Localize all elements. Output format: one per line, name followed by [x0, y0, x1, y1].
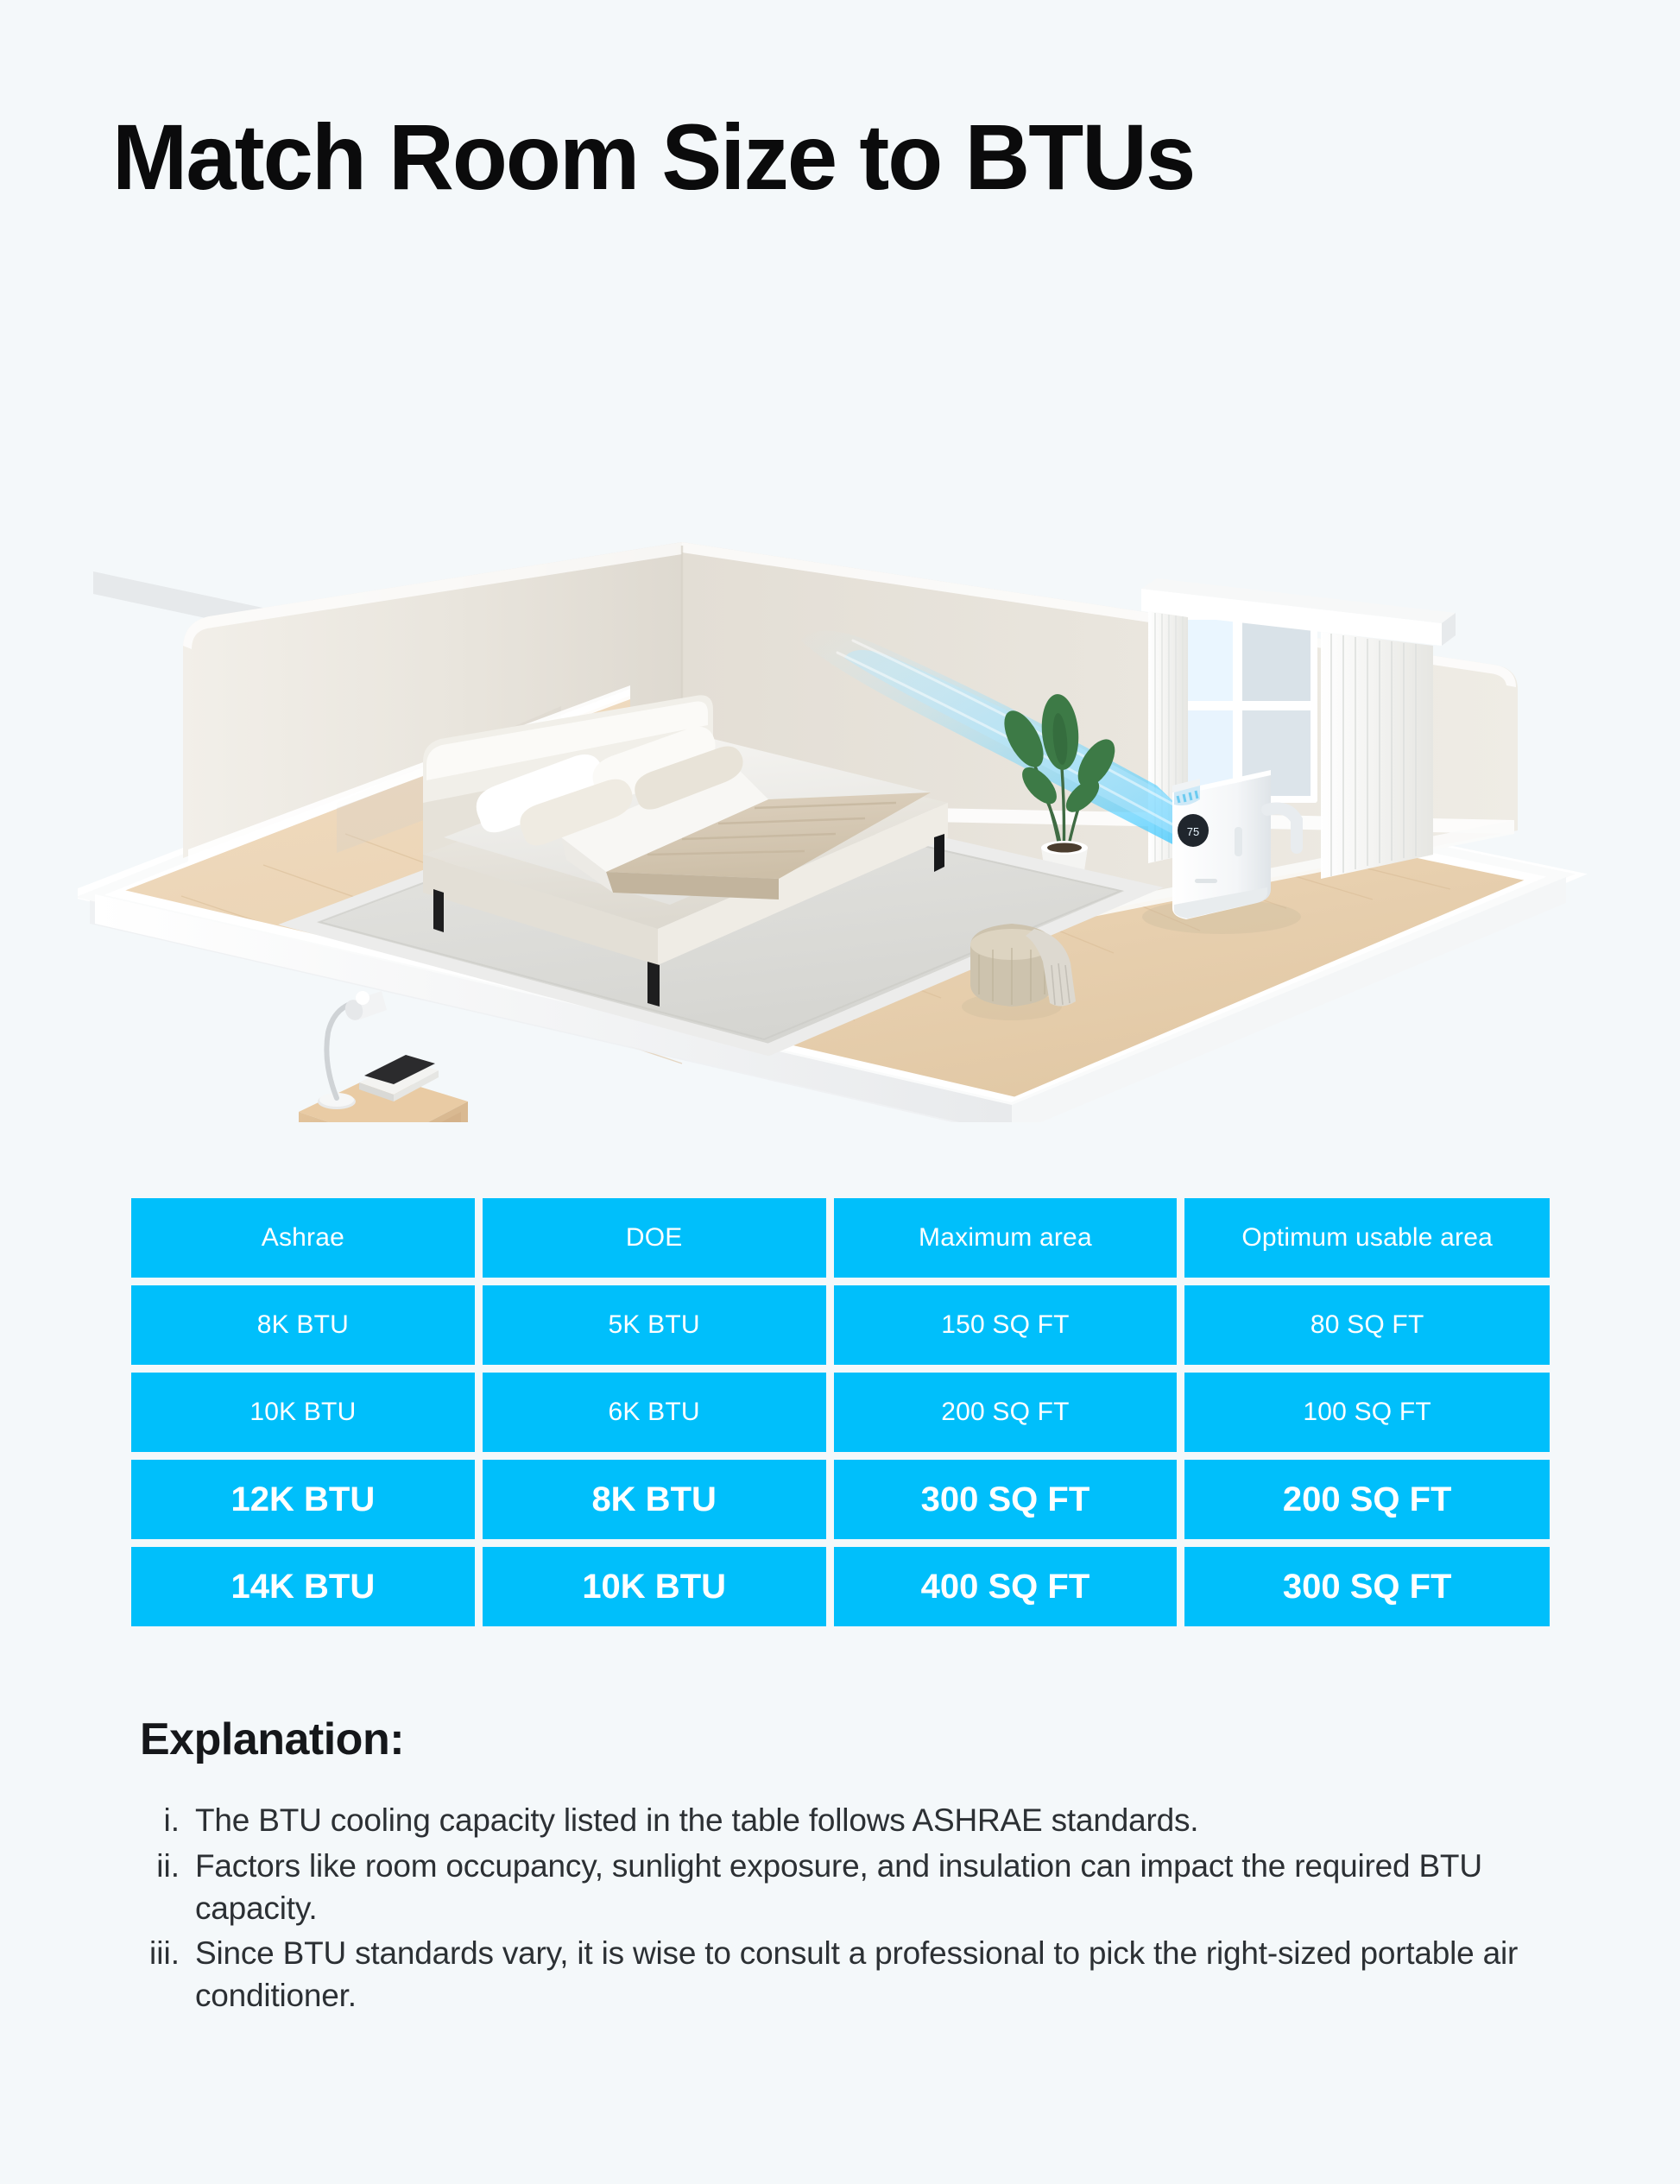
table-cell-maximum-area: 150 SQ FT	[834, 1285, 1178, 1365]
btu-table: Ashrae DOE Maximum area Optimum usable a…	[131, 1198, 1550, 1634]
table-row: 8K BTU 5K BTU 150 SQ FT 80 SQ FT	[131, 1285, 1550, 1365]
table-cell-maximum-area: 400 SQ FT	[834, 1547, 1178, 1626]
explanation-heading: Explanation:	[140, 1714, 404, 1765]
table-cell-doe: 6K BTU	[483, 1373, 826, 1452]
table-header-cell-maximum-area: Maximum area	[834, 1198, 1178, 1278]
table-header-cell-doe: DOE	[483, 1198, 826, 1278]
list-marker: i.	[138, 1800, 195, 1842]
table-header-cell-optimum-usable-area: Optimum usable area	[1184, 1198, 1550, 1278]
table-header-row: Ashrae DOE Maximum area Optimum usable a…	[131, 1198, 1550, 1278]
list-marker: iii.	[138, 1933, 195, 1975]
table-header-cell-ashrae: Ashrae	[131, 1198, 475, 1278]
bed-leg	[647, 962, 660, 1007]
table-cell-ashrae: 10K BTU	[131, 1373, 475, 1452]
bed-leg	[433, 889, 444, 932]
table-cell-doe: 5K BTU	[483, 1285, 826, 1365]
list-text: The BTU cooling capacity listed in the t…	[195, 1800, 1198, 1842]
infographic-page: Match Room Size to BTUs	[0, 0, 1680, 2184]
list-item: i. The BTU cooling capacity listed in th…	[138, 1800, 1606, 1842]
ac-display-value: 75	[1187, 825, 1199, 838]
bed-leg	[934, 834, 944, 872]
list-item: iii. Since BTU standards vary, it is wis…	[138, 1933, 1606, 2017]
table-cell-doe: 8K BTU	[483, 1460, 826, 1539]
table-cell-ashrae: 14K BTU	[131, 1547, 475, 1626]
table-cell-optimum-usable-area: 300 SQ FT	[1184, 1547, 1550, 1626]
table-cell-doe: 10K BTU	[483, 1547, 826, 1626]
table-cell-ashrae: 8K BTU	[131, 1285, 475, 1365]
table-cell-optimum-usable-area: 200 SQ FT	[1184, 1460, 1550, 1539]
list-text: Factors like room occupancy, sunlight ex…	[195, 1846, 1542, 1930]
list-item: ii. Factors like room occupancy, sunligh…	[138, 1846, 1606, 1930]
table-cell-ashrae: 12K BTU	[131, 1460, 475, 1539]
table-row: 10K BTU 6K BTU 200 SQ FT 100 SQ FT	[131, 1373, 1550, 1452]
nightstand	[294, 991, 468, 1122]
table-cell-optimum-usable-area: 100 SQ FT	[1184, 1373, 1550, 1452]
table-row: 12K BTU 8K BTU 300 SQ FT 200 SQ FT	[131, 1460, 1550, 1539]
list-text: Since BTU standards vary, it is wise to …	[195, 1933, 1542, 2017]
table-cell-maximum-area: 200 SQ FT	[834, 1373, 1178, 1452]
page-title: Match Room Size to BTUs	[112, 110, 1194, 204]
list-marker: ii.	[138, 1846, 195, 1888]
table-cell-optimum-usable-area: 80 SQ FT	[1184, 1285, 1550, 1365]
table-row: 14K BTU 10K BTU 400 SQ FT 300 SQ FT	[131, 1547, 1550, 1626]
table-cell-maximum-area: 300 SQ FT	[834, 1460, 1178, 1539]
bedroom-scene-svg: 75	[78, 319, 1614, 1122]
explanation-list: i. The BTU cooling capacity listed in th…	[138, 1800, 1606, 2021]
bedroom-illustration: 75	[78, 319, 1614, 1122]
